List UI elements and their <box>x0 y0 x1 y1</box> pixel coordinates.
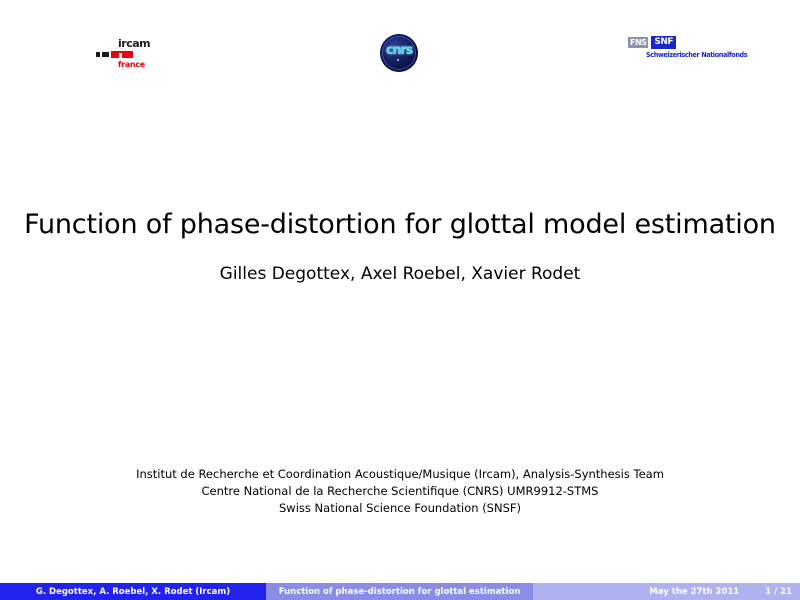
affiliation-line-3: Swiss National Science Foundation (SNSF) <box>0 500 800 517</box>
ircam-logo-mark-red <box>111 51 133 58</box>
footer-authors: G. Degottex, A. Roebel, X. Rodet (Ircam) <box>0 583 266 600</box>
ircam-logo-wordmark: ircam <box>118 38 150 49</box>
author-list: Gilles Degottex, Axel Roebel, Xavier Rod… <box>0 264 800 284</box>
title-block: Function of phase-distortion for glottal… <box>0 208 800 284</box>
footer-meta: May the 27th 2011 1 / 21 <box>533 583 800 600</box>
affiliation-line-1: Institut de Recherche et Coordination Ac… <box>0 466 800 483</box>
snsf-logo-boxes: FNS SNF <box>628 36 676 48</box>
footer-page-number: 1 / 21 <box>765 587 792 597</box>
ircam-logo-mark-black <box>96 52 109 57</box>
snsf-logo-box-left: FNS <box>628 37 648 48</box>
cnrs-logo: cnrs <box>380 30 420 74</box>
cnrs-logo-dot <box>397 59 399 61</box>
slide-footer: G. Degottex, A. Roebel, X. Rodet (Ircam)… <box>0 583 800 600</box>
logo-row: ircam france cnrs FNS SNF Schweizerische… <box>0 28 800 84</box>
affiliation-line-2: Centre National de la Recherche Scientif… <box>0 483 800 500</box>
cnrs-logo-wordmark: cnrs <box>380 43 418 58</box>
page-title: Function of phase-distortion for glottal… <box>0 208 800 242</box>
ircam-logo-subword: france <box>118 61 145 69</box>
ircam-logo: ircam france <box>96 38 168 72</box>
snsf-logo: FNS SNF Schweizerischer Nationalfonds <box>628 36 758 68</box>
affiliation-block: Institut de Recherche et Coordination Ac… <box>0 466 800 517</box>
snsf-logo-subline: Schweizerischer Nationalfonds <box>646 51 747 59</box>
snsf-logo-box-right: SNF <box>651 36 676 49</box>
footer-title: Function of phase-distortion for glottal… <box>266 583 533 600</box>
footer-date: May the 27th 2011 <box>649 587 739 597</box>
